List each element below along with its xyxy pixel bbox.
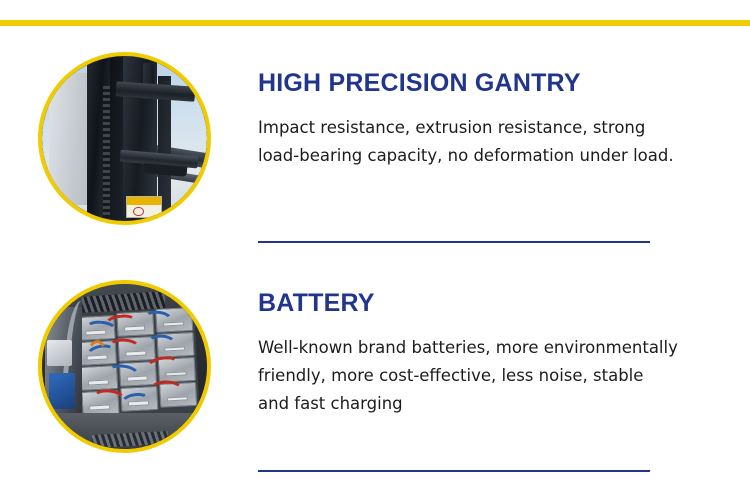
lift-chain (103, 86, 110, 218)
battery-photo-image (42, 284, 207, 449)
blue-component-box (49, 373, 75, 409)
battery-photo-circle (38, 280, 211, 453)
battery-cable-red (149, 380, 184, 400)
warning-label (126, 196, 162, 217)
section-divider-battery (258, 470, 650, 472)
yellow-accent-bar (0, 20, 750, 26)
gantry-photo-image (42, 56, 207, 221)
feature-block-battery: BATTERY Well-known brand batteries, more… (0, 280, 750, 453)
battery-heading: BATTERY (258, 290, 678, 318)
gantry-text-column: HIGH PRECISION GANTRY Impact resistance,… (258, 52, 678, 170)
battery-text-column: BATTERY Well-known brand batteries, more… (258, 280, 678, 419)
gantry-description: Impact resistance, extrusion resistance,… (258, 114, 678, 171)
section-divider-gantry (258, 241, 650, 243)
battery-description: Well-known brand batteries, more environ… (258, 334, 678, 419)
gantry-photo-wrapper (38, 52, 211, 225)
gantry-heading: HIGH PRECISION GANTRY (258, 70, 678, 98)
gantry-photo-circle (38, 52, 211, 225)
battery-photo-wrapper (38, 280, 211, 453)
white-component-box (47, 340, 72, 366)
feature-block-gantry: HIGH PRECISION GANTRY Impact resistance,… (0, 52, 750, 225)
